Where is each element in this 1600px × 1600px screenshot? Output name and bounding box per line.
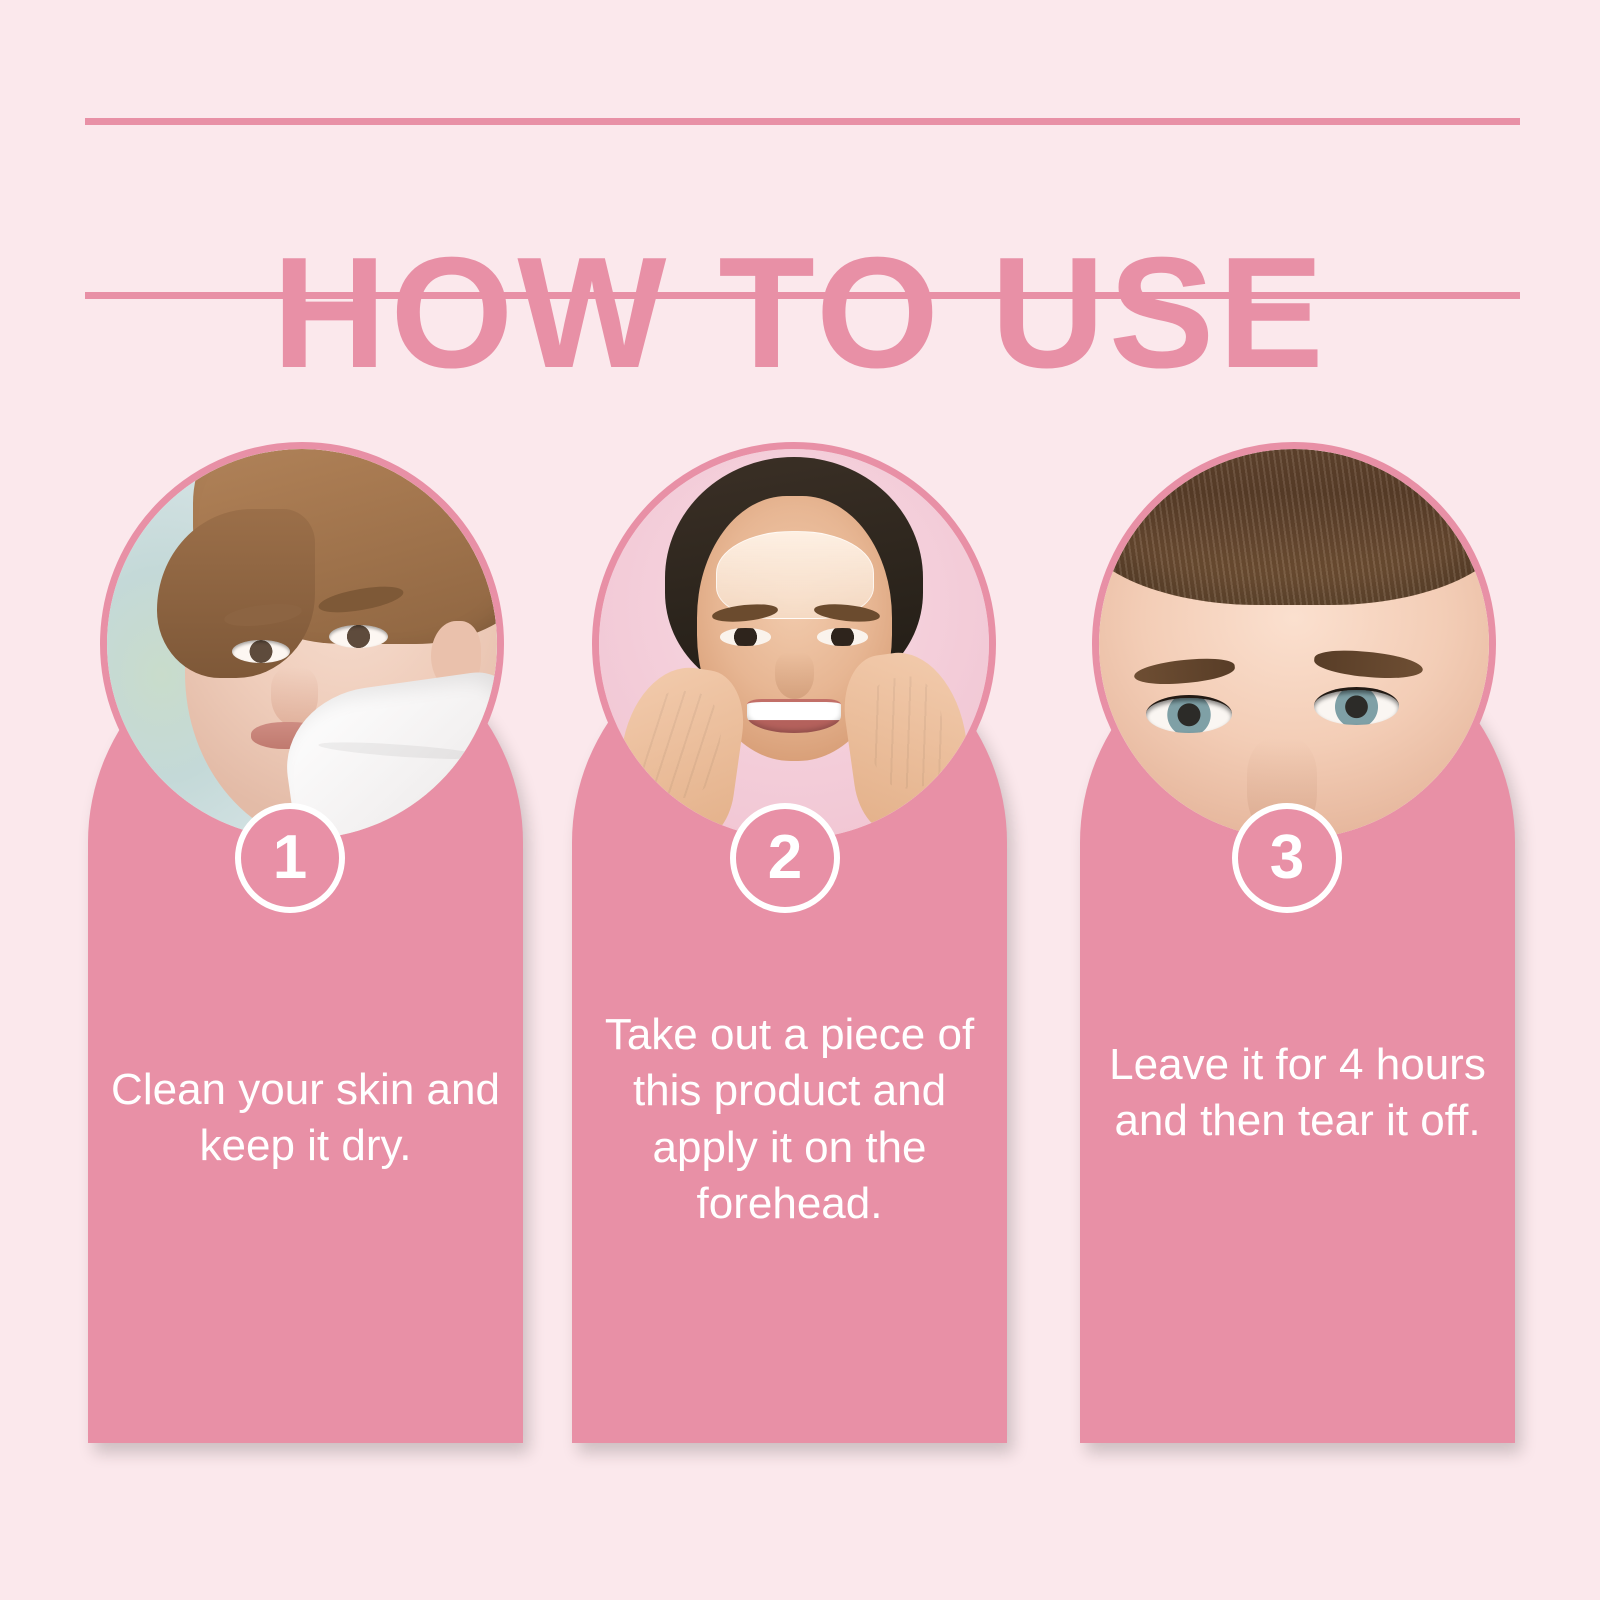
step-badge-3: 3 — [1232, 803, 1342, 913]
step-photo-3-image — [1099, 449, 1489, 839]
photo-3-hair — [1099, 449, 1489, 605]
step-caption-3: Leave it for 4 hours and then tear it of… — [1098, 1037, 1497, 1150]
photo-2-smile — [747, 699, 841, 733]
step-photo-1-image — [107, 449, 497, 839]
photo-3-eye-left — [1146, 695, 1232, 733]
how-to-use-infographic: HOW TO USE Clean your skin and keep it d… — [0, 0, 1600, 1600]
step-photo-1 — [100, 442, 504, 846]
page-title: HOW TO USE — [0, 226, 1600, 401]
step-caption-1: Clean your skin and keep it dry. — [106, 1062, 505, 1175]
step-photo-3 — [1092, 442, 1496, 846]
step-number-1: 1 — [273, 827, 307, 889]
photo-3-eye-right — [1314, 687, 1400, 725]
photo-1-eye-right — [329, 625, 388, 648]
photo-2-eye-left — [720, 628, 771, 646]
step-badge-1: 1 — [235, 803, 345, 913]
step-photo-2-image — [599, 449, 989, 839]
photo-2-nose — [775, 652, 814, 699]
photo-2-eye-right — [817, 628, 868, 646]
step-photo-2 — [592, 442, 996, 846]
step-number-3: 3 — [1270, 827, 1304, 889]
step-caption-2: Take out a piece of this product and app… — [590, 1007, 989, 1232]
title-bottom-rule — [85, 292, 1520, 299]
step-badge-2: 2 — [730, 803, 840, 913]
title-top-rule — [85, 118, 1520, 125]
step-number-2: 2 — [768, 827, 802, 889]
